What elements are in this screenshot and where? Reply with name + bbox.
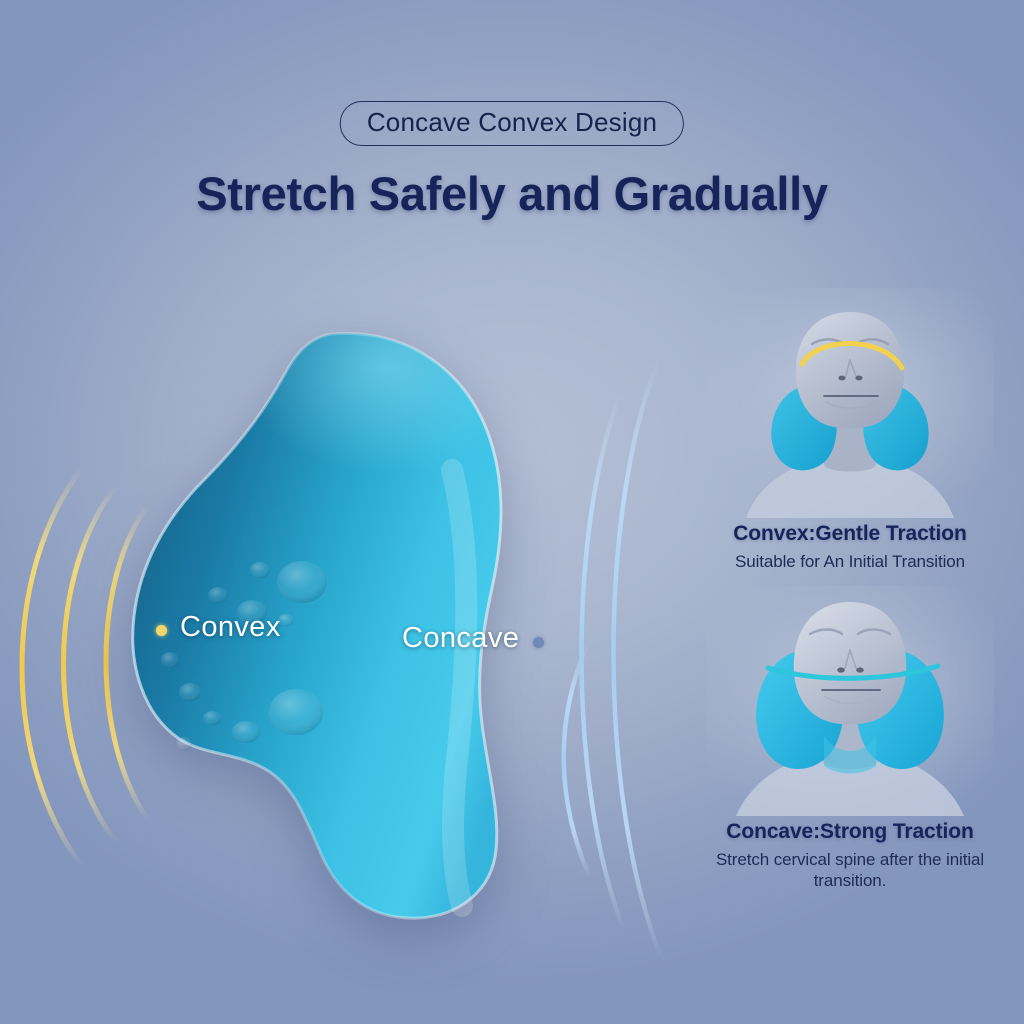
infographic-canvas: Concave Convex Design Stretch Safely and… [0, 0, 1024, 1024]
panel-convex-gentle-traction: Convex:Gentle Traction Suitable for An I… [690, 288, 1010, 572]
page-title: Stretch Safely and Gradually [0, 166, 1024, 221]
panel-title: Concave:Strong Traction [690, 820, 1010, 844]
panel-subtitle: Stretch cervical spine after the initial… [690, 849, 1010, 892]
concave-marker-dot [533, 637, 544, 648]
face-with-neck-pillow-gentle-icon [706, 288, 994, 518]
concave-label: Concave [402, 622, 519, 655]
panel-subtitle: Suitable for An Initial Transition [690, 551, 1010, 572]
product-illustration: Convex Concave [20, 300, 680, 990]
convex-label: Convex [180, 611, 281, 644]
panel-concave-strong-traction: Concave:Strong Traction Stretch cervical… [690, 586, 1010, 892]
badge-concave-convex-design: Concave Convex Design [340, 101, 684, 146]
panel-title: Convex:Gentle Traction [690, 522, 1010, 546]
convex-marker-dot [156, 625, 167, 636]
face-with-neck-pillow-strong-icon [706, 586, 994, 816]
